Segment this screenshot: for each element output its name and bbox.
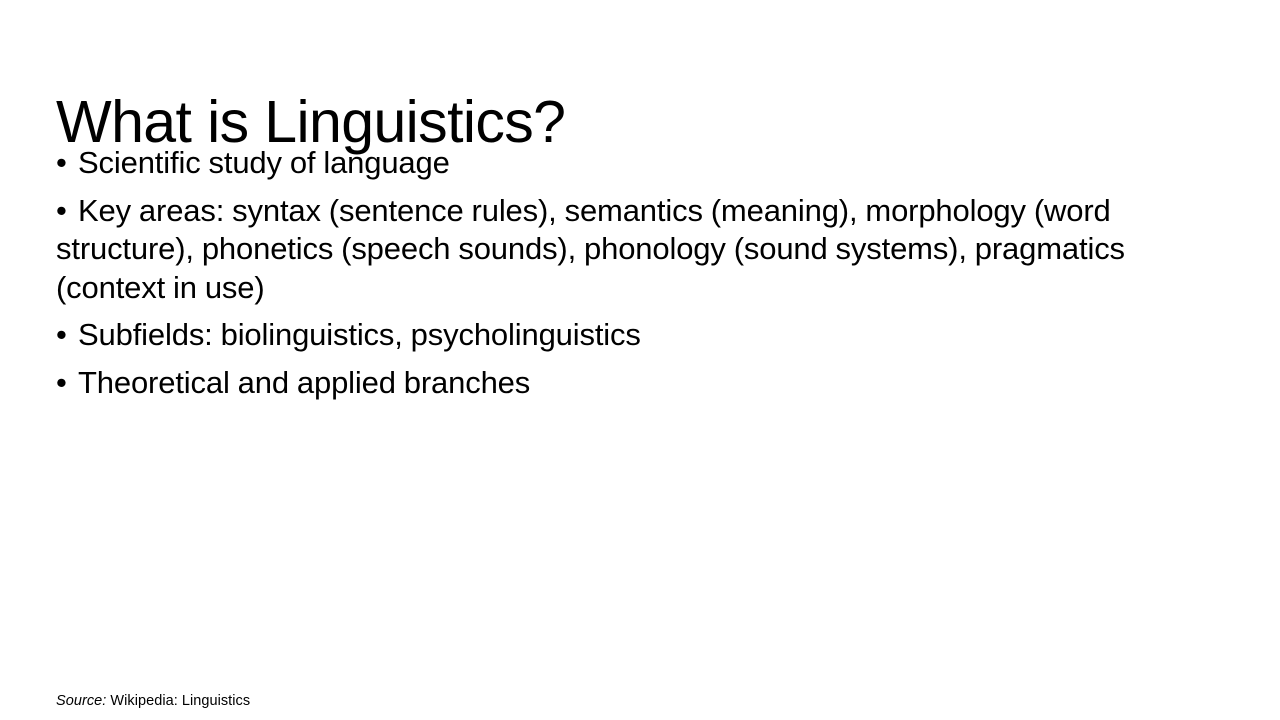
bullet-text: Scientific study of language <box>78 145 450 180</box>
list-item: •Key areas: syntax (sentence rules), sem… <box>56 192 1214 308</box>
list-item: •Theoretical and applied branches <box>56 364 1214 403</box>
bullet-text: Subfields: biolinguistics, psycholinguis… <box>78 317 641 352</box>
bullet-list: •Scientific study of language •Key areas… <box>56 144 1214 402</box>
bullet-dot-icon: • <box>56 144 78 183</box>
list-item: •Scientific study of language <box>56 144 1214 183</box>
source-label: Source: <box>56 693 106 709</box>
bullet-dot-icon: • <box>56 316 78 355</box>
bullet-text: Theoretical and applied branches <box>78 365 530 400</box>
source-attribution: Source: Wikipedia: Linguistics <box>56 691 250 711</box>
source-value: Wikipedia: Linguistics <box>106 693 250 709</box>
slide-canvas: What is Linguistics? •Scientific study o… <box>0 0 1280 720</box>
bullet-dot-icon: • <box>56 364 78 403</box>
bullet-dot-icon: • <box>56 192 78 231</box>
list-item: •Subfields: biolinguistics, psycholingui… <box>56 316 1214 355</box>
bullet-text: Key areas: syntax (sentence rules), sema… <box>56 193 1125 305</box>
